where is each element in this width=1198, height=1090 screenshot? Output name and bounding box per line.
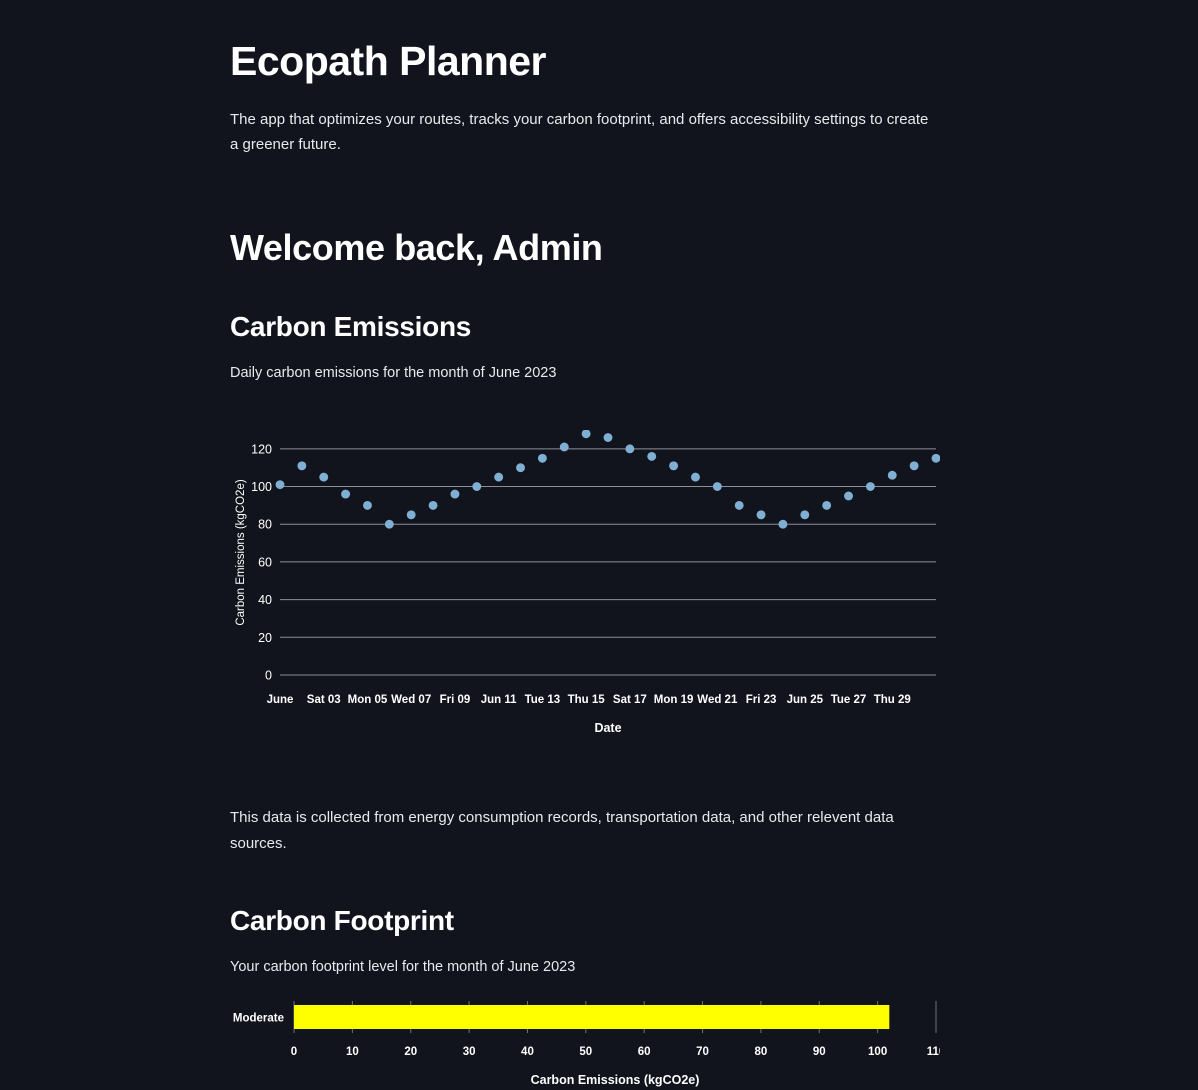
scatter-point[interactable] [800, 511, 809, 520]
scatter-points-group [276, 429, 940, 528]
scatter-point[interactable] [538, 454, 547, 463]
welcome-heading: Welcome back, Admin [230, 227, 940, 269]
scatter-point[interactable] [297, 462, 306, 471]
scatter-point[interactable] [560, 443, 569, 452]
footprint-axis-title: Carbon Emissions (kgCO2e) [531, 1073, 700, 1087]
x-tick-label: Mon 19 [654, 694, 694, 706]
x-tick-label: Wed 21 [697, 694, 738, 706]
x-tick-label: Thu 29 [874, 694, 911, 706]
x-axis-title: Date [594, 721, 621, 735]
x-tick-label: Sat 03 [307, 694, 341, 706]
x-tick-label: Fri 23 [746, 694, 777, 706]
scatter-point[interactable] [516, 463, 525, 472]
y-tick-label: 20 [258, 631, 272, 645]
scatter-point[interactable] [932, 454, 940, 463]
scatter-point[interactable] [276, 480, 285, 489]
footprint-tick-label: 110 [927, 1046, 940, 1058]
page-title: Ecopath Planner [230, 38, 940, 85]
y-tick-label: 120 [251, 442, 272, 456]
x-tick-label: Wed 07 [391, 694, 431, 706]
page-root: Ecopath Planner The app that optimizes y… [0, 0, 1198, 1090]
scatter-point[interactable] [735, 501, 744, 510]
scatter-point[interactable] [494, 473, 503, 482]
x-tick-label: Fri 09 [440, 694, 471, 706]
scatter-point[interactable] [844, 492, 853, 501]
carbon-footprint-title: Carbon Footprint [230, 905, 940, 937]
scatter-point[interactable] [647, 452, 656, 461]
scatter-plot-svg[interactable]: 020406080100120Carbon Emissions (kgCO2e)… [230, 397, 940, 747]
carbon-emissions-description: Daily carbon emissions for the month of … [230, 365, 940, 381]
scatter-point[interactable] [604, 433, 613, 442]
x-tick-label: Tue 13 [525, 694, 561, 706]
scatter-point[interactable] [910, 462, 919, 471]
footprint-bar-svg[interactable]: Moderate0102030405060708090100110Carbon … [230, 1001, 940, 1090]
footprint-tick-label: 100 [868, 1046, 887, 1058]
scatter-point[interactable] [319, 473, 328, 482]
scatter-point[interactable] [866, 482, 875, 491]
scatter-point[interactable] [778, 520, 787, 529]
scatter-point[interactable] [582, 429, 591, 438]
x-tick-label: Mon 05 [348, 694, 388, 706]
carbon-emissions-title: Carbon Emissions [230, 311, 940, 343]
footprint-tick-label: 40 [521, 1046, 534, 1058]
y-tick-label: 100 [251, 480, 272, 494]
scatter-point[interactable] [363, 501, 372, 510]
scatter-point[interactable] [450, 490, 459, 499]
footprint-tick-label: 70 [696, 1046, 709, 1058]
footprint-tick-label: 50 [579, 1046, 592, 1058]
content-column: Ecopath Planner The app that optimizes y… [230, 0, 940, 1090]
footprint-bar[interactable] [294, 1005, 889, 1029]
x-tick-label: Tue 27 [831, 694, 867, 706]
x-tick-label: Jun 25 [787, 694, 824, 706]
footprint-tick-label: 30 [463, 1046, 476, 1058]
x-tick-label: Sat 17 [613, 694, 647, 706]
footprint-tick-label: 60 [638, 1046, 651, 1058]
y-axis-title: Carbon Emissions (kgCO2e) [235, 479, 247, 626]
x-tick-label: Thu 15 [568, 694, 606, 706]
carbon-emissions-footnote: This data is collected from energy consu… [230, 805, 930, 857]
scatter-point[interactable] [429, 501, 438, 510]
footprint-level-label: Moderate [233, 1013, 284, 1025]
scatter-point[interactable] [691, 473, 700, 482]
carbon-footprint-description: Your carbon footprint level for the mont… [230, 959, 940, 975]
scatter-point[interactable] [472, 482, 481, 491]
scatter-point[interactable] [888, 471, 897, 480]
carbon-emissions-chart[interactable]: 020406080100120Carbon Emissions (kgCO2e)… [230, 397, 940, 747]
scatter-point[interactable] [341, 490, 350, 499]
footprint-tick-label: 20 [404, 1046, 417, 1058]
scatter-point[interactable] [822, 501, 831, 510]
x-tick-label: Jun 11 [481, 694, 517, 706]
footprint-tick-label: 10 [346, 1046, 359, 1058]
scatter-point[interactable] [757, 511, 766, 520]
footprint-tick-label: 0 [291, 1046, 297, 1058]
y-tick-label: 0 [265, 669, 272, 683]
scatter-point[interactable] [713, 482, 722, 491]
scatter-point[interactable] [625, 445, 634, 454]
app-tagline: The app that optimizes your routes, trac… [230, 107, 936, 157]
y-tick-label: 60 [258, 556, 272, 570]
x-tick-label: June [267, 694, 294, 706]
scatter-point[interactable] [407, 511, 416, 520]
y-tick-label: 80 [258, 518, 272, 532]
scatter-point[interactable] [669, 462, 678, 471]
y-tick-label: 40 [258, 593, 272, 607]
carbon-footprint-chart[interactable]: Moderate0102030405060708090100110Carbon … [230, 1001, 940, 1090]
footprint-tick-label: 80 [755, 1046, 768, 1058]
footprint-tick-label: 90 [813, 1046, 826, 1058]
scatter-point[interactable] [385, 520, 394, 529]
